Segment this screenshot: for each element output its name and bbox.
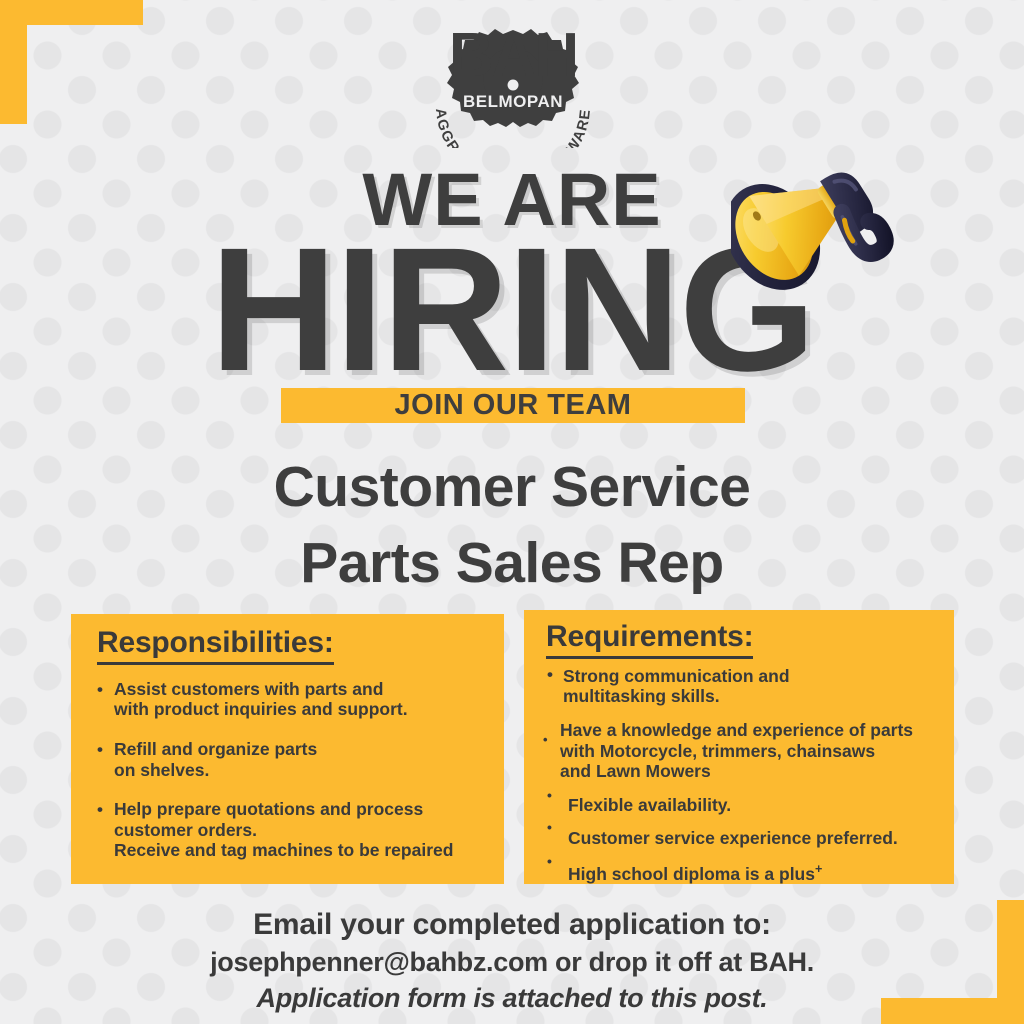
logo-dot bbox=[508, 80, 519, 91]
requirements-heading: Requirements: bbox=[546, 620, 753, 659]
list-item: Customer service experience preferred. bbox=[546, 828, 942, 849]
responsibility-text-2: Refill and organize partson shelves. bbox=[114, 739, 317, 780]
list-item: Have a knowledge and experience of parts… bbox=[546, 720, 942, 782]
requirement-text-3: Flexible availability. bbox=[568, 795, 731, 815]
responsibilities-panel: Responsibilities: Assist customers with … bbox=[71, 614, 504, 884]
list-item: Flexible availability. bbox=[546, 795, 942, 816]
responsibilities-list: Assist customers with parts andwith prod… bbox=[97, 679, 486, 861]
list-item: High school diploma is a plus+ bbox=[546, 862, 942, 884]
bah-logo: BAH BELMOPAN AGGREGATES & HARDWARE bbox=[424, 14, 602, 148]
join-our-team-banner: JOIN OUR TEAM bbox=[281, 388, 745, 423]
footer-note: Application form is attached to this pos… bbox=[0, 980, 1024, 1016]
footer-contact-block: Email your completed application to: jos… bbox=[0, 905, 1024, 1017]
list-item: Refill and organize partson shelves. bbox=[97, 739, 486, 780]
headline-hiring: HIRING bbox=[0, 222, 1024, 398]
list-item: Assist customers with parts andwith prod… bbox=[97, 679, 486, 720]
requirements-list: Strong communication andmultitasking ski… bbox=[546, 666, 942, 885]
footer-instruction: Email your completed application to: bbox=[0, 905, 1024, 944]
responsibility-text-1: Assist customers with parts andwith prod… bbox=[114, 679, 408, 720]
job-title-line-2: Parts Sales Rep bbox=[0, 526, 1024, 602]
list-item: Strong communication andmultitasking ski… bbox=[546, 666, 942, 707]
requirement-superscript: + bbox=[815, 862, 822, 876]
corner-bracket-top-left-vertical bbox=[0, 0, 27, 124]
logo-city: BELMOPAN bbox=[463, 92, 563, 111]
footer-email-line[interactable]: josephpenner@bahbz.com or drop it off at… bbox=[0, 944, 1024, 980]
requirements-panel: Requirements: Strong communication andmu… bbox=[524, 610, 954, 884]
requirement-text-4: Customer service experience preferred. bbox=[568, 828, 898, 848]
list-item: Help prepare quotations and processcusto… bbox=[97, 799, 486, 861]
join-our-team-label: JOIN OUR TEAM bbox=[395, 391, 632, 420]
requirement-text-1: Strong communication andmultitasking ski… bbox=[563, 666, 790, 707]
page-title: Customer Service Parts Sales Rep bbox=[0, 450, 1024, 602]
job-posting-poster: BAH BELMOPAN AGGREGATES & HARDWARE WE AR… bbox=[0, 0, 1024, 1024]
requirement-text-5: High school diploma is a plus bbox=[568, 864, 815, 884]
responsibility-text-3: Help prepare quotations and processcusto… bbox=[114, 799, 453, 860]
requirement-text-2: Have a knowledge and experience of parts… bbox=[560, 720, 913, 781]
responsibilities-heading: Responsibilities: bbox=[97, 626, 334, 665]
job-title-line-1: Customer Service bbox=[0, 450, 1024, 526]
